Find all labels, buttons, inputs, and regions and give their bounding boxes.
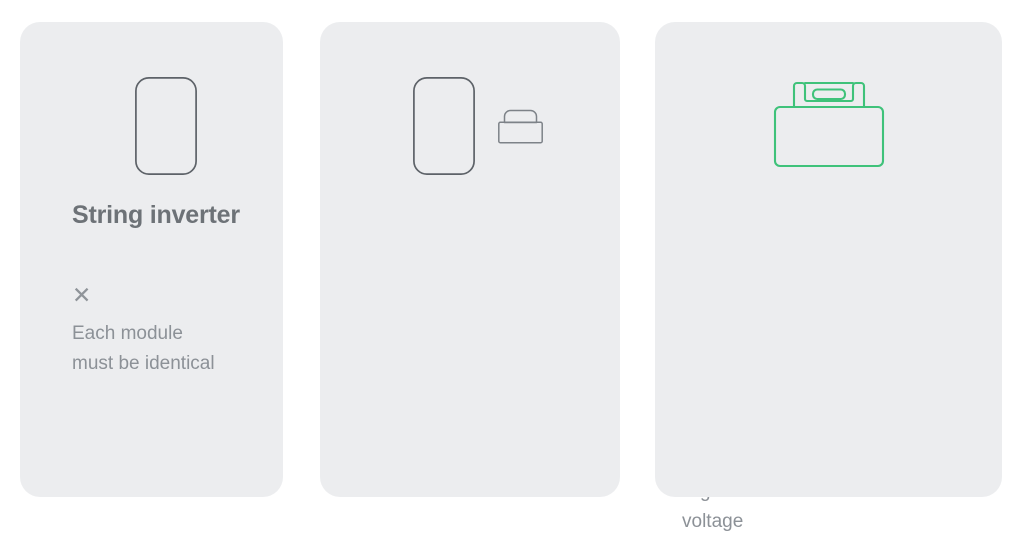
string-inverter-icon — [135, 77, 197, 180]
string-inverter-with-optimizer-icon — [413, 77, 551, 180]
card-icon-area — [655, 22, 1002, 172]
card-microinverter-system[interactable]: Microinverter system ✔ Just add more mod… — [655, 22, 1002, 497]
bullet-text: Each module must be identical — [72, 319, 215, 379]
card-string-system-with-optimizer[interactable]: String system with an optimize ✕ Arc-fau… — [320, 22, 620, 497]
card-string-inverter[interactable]: String inverter ✕ Each module must be id… — [20, 22, 283, 497]
microinverter-icon — [773, 70, 885, 173]
bullet-item: ✕ Each module must be identical — [72, 284, 215, 379]
card-bullet-list: ✕ Each module must be identical — [72, 284, 215, 379]
cross-icon: ✕ — [72, 284, 215, 307]
card-icon-area — [320, 22, 620, 172]
comparison-cards-board: String inverter ✕ Each module must be id… — [0, 0, 1024, 519]
card-title: String inverter — [72, 200, 240, 230]
card-icon-area — [20, 22, 283, 172]
